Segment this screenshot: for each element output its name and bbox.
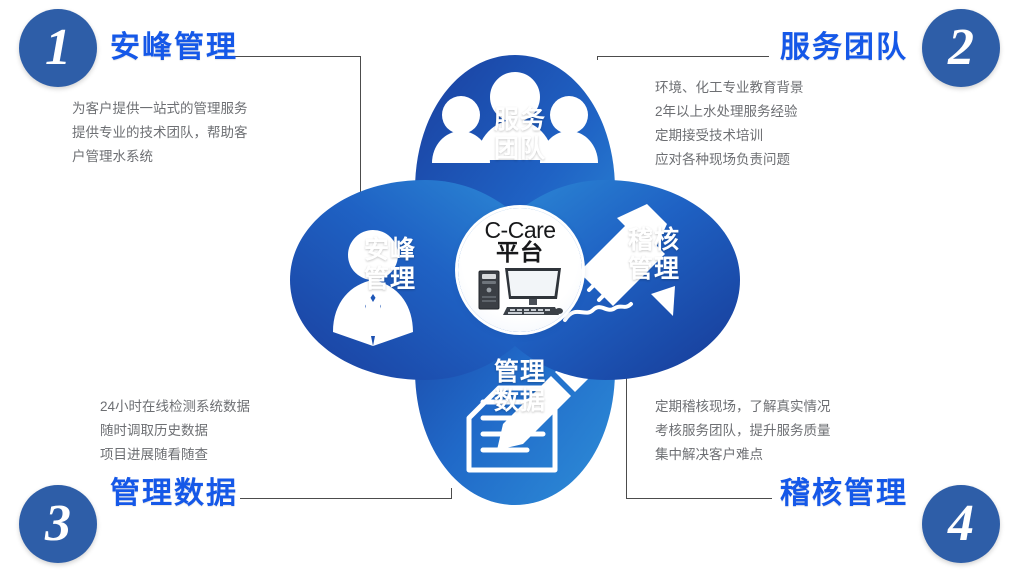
section-title-2: 服务团队 [780, 22, 908, 66]
section-badge-1: 1 [19, 9, 97, 87]
petal-label-service-team: 服务 团队 [470, 106, 570, 164]
section-title-3: 管理数据 [110, 468, 238, 512]
section-body-1-line-3: 户管理水系统 [72, 145, 248, 169]
section-body-3: 24小时在线检测系统数据 随时调取历史数据 项目进展随看随查 [100, 395, 250, 467]
section-title-4: 稽核管理 [780, 468, 908, 512]
section-body-4: 定期稽核现场，了解真实情况 考核服务团队，提升服务质量 集中解决客户难点 [655, 395, 831, 467]
section-badge-2: 2 [922, 9, 1000, 87]
section-body-3-line-1: 24小时在线检测系统数据 [100, 395, 250, 419]
section-title-1: 安峰管理 [110, 22, 238, 66]
section-body-2-line-3: 定期接受技术培训 [655, 124, 804, 148]
section-body-1-line-1: 为客户提供一站式的管理服务 [72, 97, 248, 121]
section-body-1-line-2: 提供专业的技术团队，帮助客 [72, 121, 248, 145]
petal-label-anfeng-management: 安峰 管理 [340, 236, 440, 294]
section-body-3-line-3: 项目进展随看随查 [100, 443, 250, 467]
section-badge-4: 4 [922, 485, 1000, 563]
desktop-computer-icon [477, 265, 563, 317]
petal-label-audit-management: 稽核 管理 [604, 226, 704, 284]
petal-label-management-data: 管理 数据 [470, 358, 570, 416]
section-body-3-line-2: 随时调取历史数据 [100, 419, 250, 443]
section-body-1: 为客户提供一站式的管理服务 提供专业的技术团队，帮助客 户管理水系统 [72, 97, 248, 169]
section-body-2-line-1: 环境、化工专业教育背景 [655, 76, 804, 100]
section-body-2-line-4: 应对各种现场负责问题 [655, 148, 804, 172]
infographic-canvas: 服务 团队 安峰 管理 稽核 管理 管理 数据 C-Care 平台 [0, 0, 1010, 572]
section-body-2-line-2: 2年以上水处理服务经验 [655, 100, 804, 124]
center-hub[interactable]: C-Care 平台 [458, 208, 582, 332]
section-body-4-line-3: 集中解决客户难点 [655, 443, 831, 467]
section-body-4-line-2: 考核服务团队，提升服务质量 [655, 419, 831, 443]
section-body-4-line-1: 定期稽核现场，了解真实情况 [655, 395, 831, 419]
section-badge-3: 3 [19, 485, 97, 563]
section-body-2: 环境、化工专业教育背景 2年以上水处理服务经验 定期接受技术培训 应对各种现场负… [655, 76, 804, 172]
hub-subtitle-label: 平台 [496, 240, 544, 264]
